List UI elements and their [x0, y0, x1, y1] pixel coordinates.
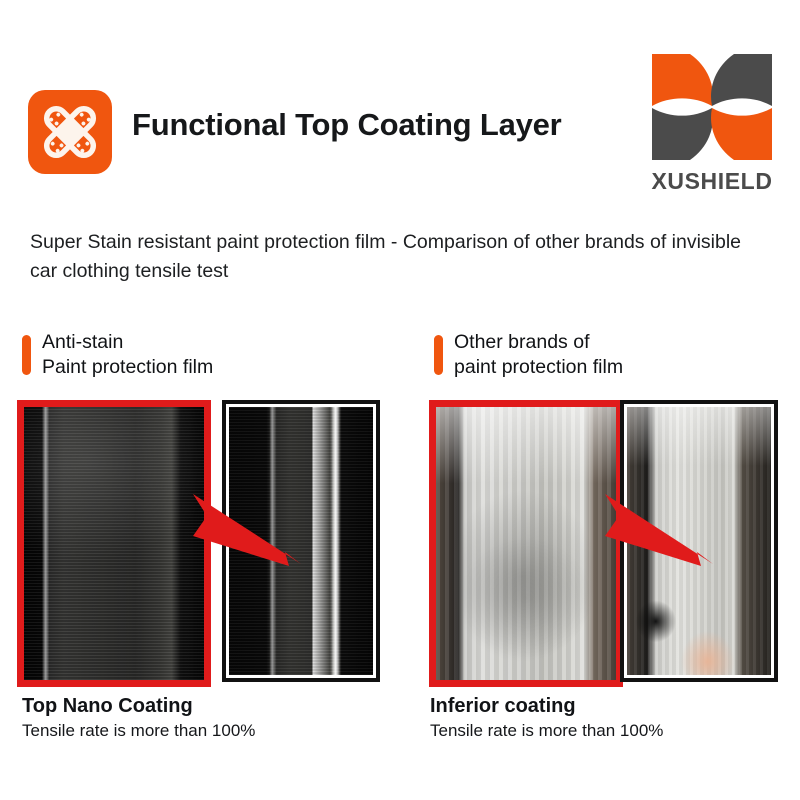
left-caption-title: Top Nano Coating	[22, 694, 255, 718]
orange-marker-bar	[434, 335, 443, 375]
other-brand-film-tensile-test	[620, 400, 778, 682]
right-photo-group	[429, 400, 779, 688]
right-column-header: Other brands of paint protection film	[430, 330, 790, 380]
header: Functional Top Coating Layer XUSHIELD	[0, 0, 800, 205]
subtitle: Super Stain resistant paint protection f…	[30, 228, 760, 286]
right-caption-sub: Tensile rate is more than 100%	[430, 719, 663, 742]
brand-logo: XUSHIELD	[646, 48, 778, 195]
left-photo-group	[17, 400, 395, 688]
right-caption: Inferior coating Tensile rate is more th…	[430, 694, 663, 742]
anti-stain-closeup-image	[24, 407, 204, 680]
other-brand-closeup-image	[436, 407, 616, 680]
left-caption-sub: Tensile rate is more than 100%	[22, 719, 255, 742]
right-label-line1: Other brands of	[454, 331, 590, 353]
left-label-line2: Paint protection film	[42, 355, 398, 380]
other-brand-tensile-image	[627, 407, 771, 675]
marketing-infographic: Functional Top Coating Layer XUSHIELD Su…	[0, 0, 800, 800]
anti-stain-tensile-image	[229, 407, 373, 675]
crossed-bandages-icon	[28, 90, 112, 174]
orange-marker-bar	[22, 335, 31, 375]
left-column-header: Anti-stain Paint protection film	[18, 330, 398, 380]
left-column-label: Anti-stain Paint protection film	[18, 330, 398, 380]
left-label-line1: Anti-stain	[42, 331, 123, 353]
right-caption-title: Inferior coating	[430, 694, 663, 718]
other-brand-film-closeup	[429, 400, 623, 687]
logo-wordmark: XUSHIELD	[646, 168, 778, 195]
right-column-label: Other brands of paint protection film	[430, 330, 790, 380]
xushield-butterfly-logo	[646, 48, 778, 166]
anti-stain-film-closeup	[17, 400, 211, 687]
right-label-line2: paint protection film	[454, 355, 790, 380]
left-caption: Top Nano Coating Tensile rate is more th…	[22, 694, 255, 742]
page-title: Functional Top Coating Layer	[132, 107, 562, 143]
anti-stain-film-tensile-test	[222, 400, 380, 682]
